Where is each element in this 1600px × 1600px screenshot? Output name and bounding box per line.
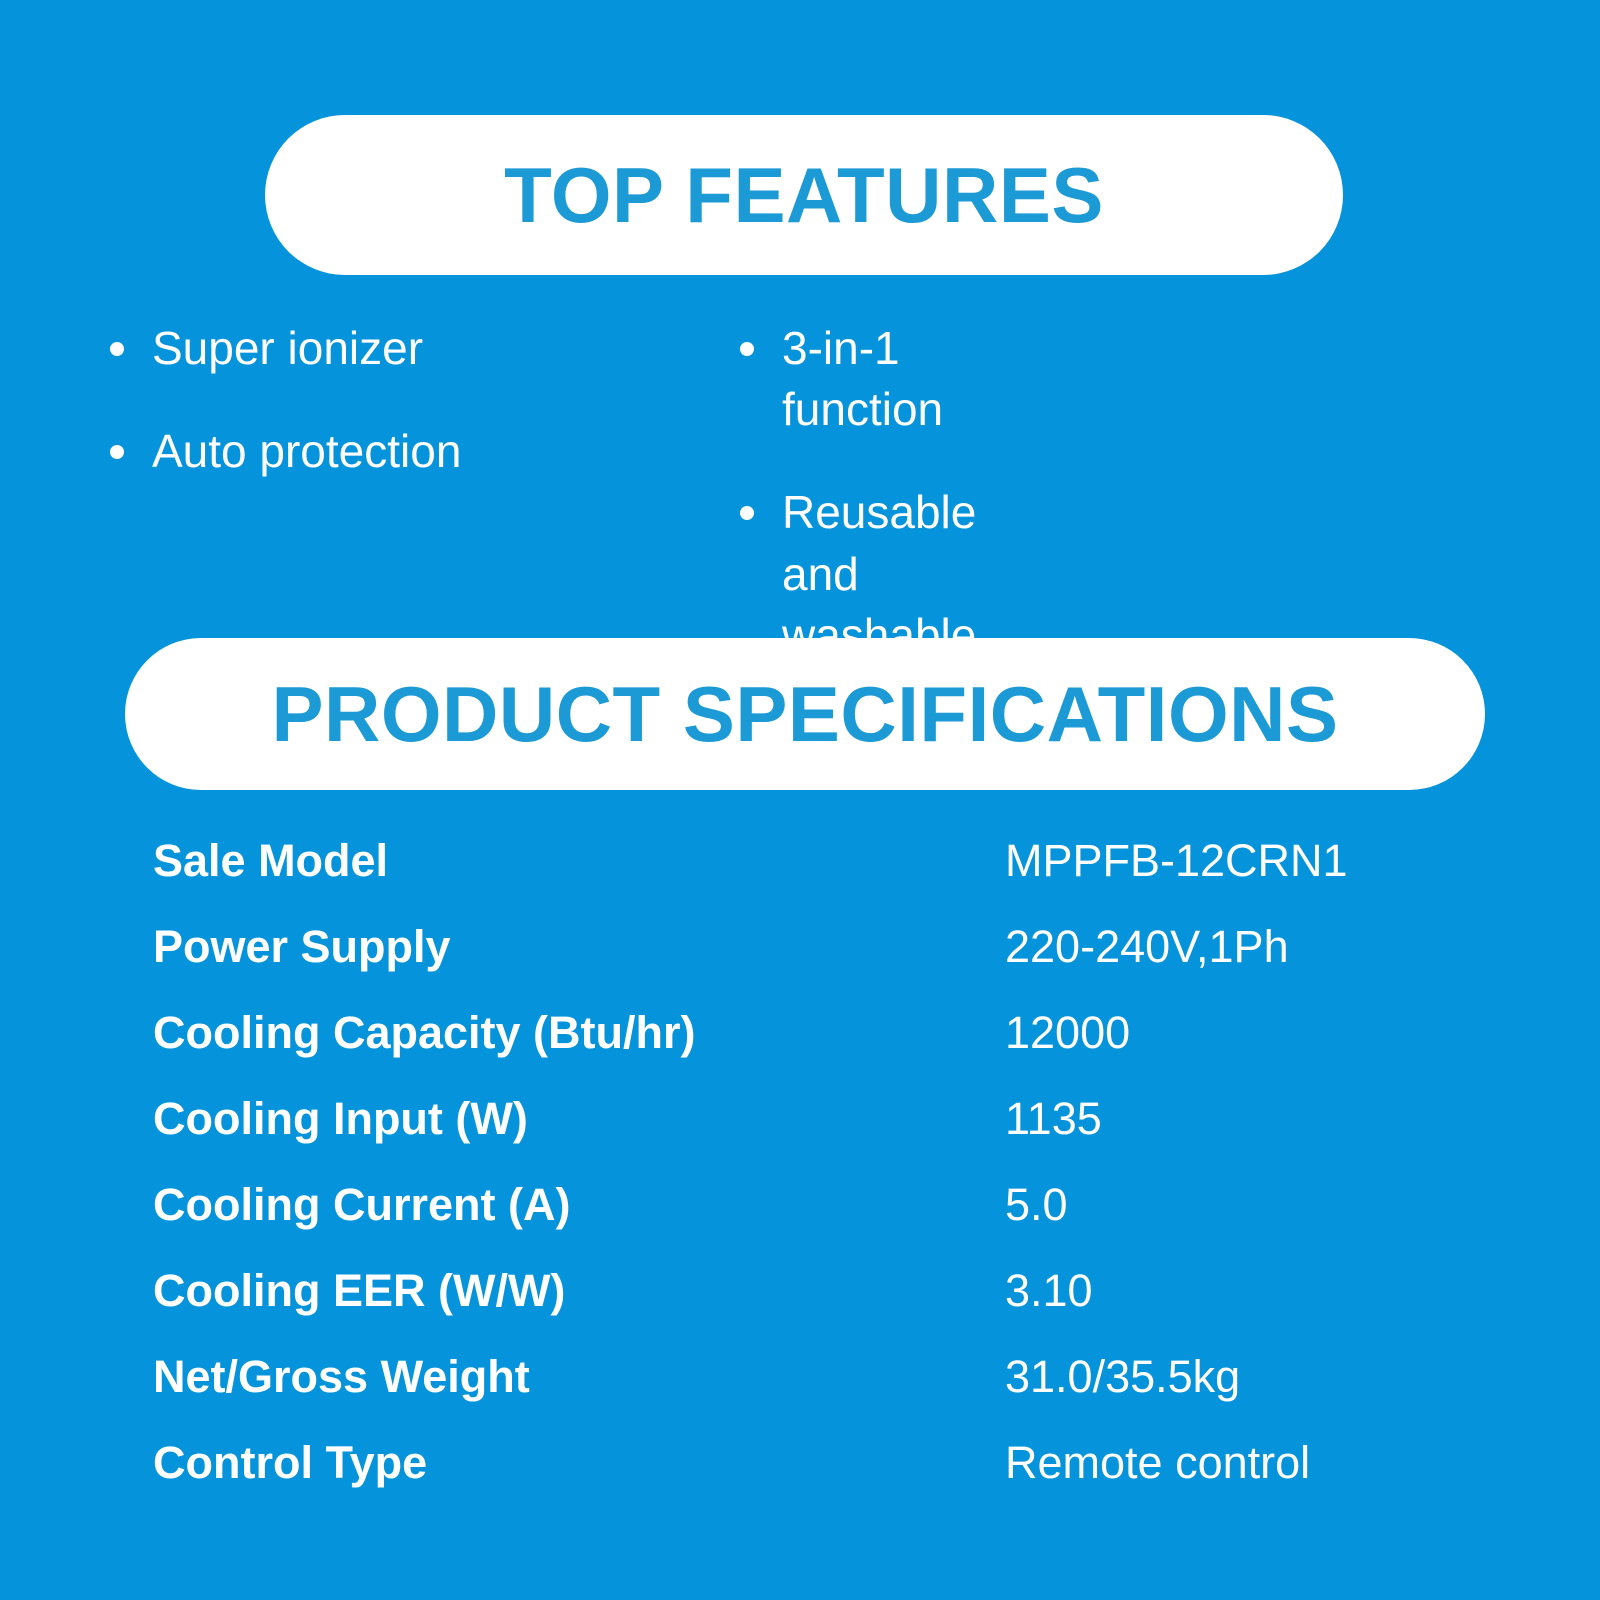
spec-value: 1135: [1005, 1096, 1102, 1141]
table-row: Cooling EER (W/W) 3.10: [153, 1268, 1493, 1354]
table-row: Power Supply 220-240V,1Ph: [153, 924, 1493, 1010]
spec-value: Remote control: [1005, 1440, 1310, 1485]
spec-label: Cooling Capacity (Btu/hr): [153, 1010, 1005, 1055]
spec-value: 31.0/35.5kg: [1005, 1354, 1240, 1399]
spec-value: MPPFB-12CRN1: [1005, 838, 1348, 883]
spec-label: Power Supply: [153, 924, 1005, 969]
spec-label: Net/Gross Weight: [153, 1354, 1005, 1399]
spec-label: Cooling Input (W): [153, 1096, 1005, 1141]
spec-label: Sale Model: [153, 838, 1005, 883]
spec-label: Cooling Current (A): [153, 1182, 1005, 1227]
feature-label: 3-in-1 function: [782, 318, 943, 440]
table-row: Sale Model MPPFB-12CRN1: [153, 838, 1493, 924]
table-row: Cooling Current (A) 5.0: [153, 1182, 1493, 1268]
spec-value: 220-240V,1Ph: [1005, 924, 1289, 969]
product-specifications-table: Sale Model MPPFB-12CRN1 Power Supply 220…: [153, 838, 1493, 1526]
bullet-dot-icon: [740, 506, 754, 520]
spec-value: 12000: [1005, 1010, 1130, 1055]
spec-value: 5.0: [1005, 1182, 1068, 1227]
product-specifications-heading-pill: PRODUCT SPECIFICATIONS: [125, 638, 1485, 790]
list-item: 3-in-1 function: [740, 318, 772, 440]
table-row: Control Type Remote control: [153, 1440, 1493, 1526]
bullet-dot-icon: [740, 342, 754, 356]
table-row: Cooling Input (W) 1135: [153, 1096, 1493, 1182]
table-row: Net/Gross Weight 31.0/35.5kg: [153, 1354, 1493, 1440]
top-features-heading-text: TOP FEATURES: [504, 156, 1104, 234]
spec-value: 3.10: [1005, 1268, 1093, 1313]
top-features-heading-pill: TOP FEATURES: [265, 115, 1343, 275]
spec-label: Control Type: [153, 1440, 1005, 1485]
spec-label: Cooling EER (W/W): [153, 1268, 1005, 1313]
table-row: Cooling Capacity (Btu/hr) 12000: [153, 1010, 1493, 1096]
product-specifications-heading-text: PRODUCT SPECIFICATIONS: [272, 675, 1339, 753]
